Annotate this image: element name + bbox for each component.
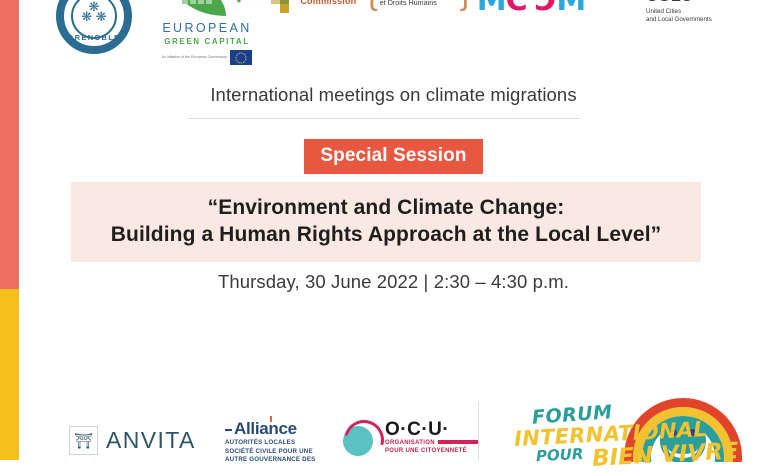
session-title-line-2: Building a Human Rights Approach at the … bbox=[81, 221, 691, 248]
cglu-commission-logo: CGLU Commission { Inclusion Sociale, Dém… bbox=[271, 0, 471, 10]
ocu-sub-line1-text: ORGANISATION bbox=[385, 440, 435, 446]
alliance-sub-line1: AUTORITÉS LOCALES bbox=[225, 439, 325, 447]
anvita-logo: ⛩ ANVITA bbox=[69, 426, 196, 455]
anvita-wordmark: ANVITA bbox=[106, 427, 196, 454]
footer-divider bbox=[478, 402, 479, 460]
uclg-squares-icon bbox=[609, 0, 639, 8]
mc2cm-wordmark: MC2CM bbox=[471, 0, 591, 16]
alliance-sub-line2: SOCIÉTÉ CIVILE POUR UNE bbox=[225, 448, 325, 456]
anvita-emblem-icon: ⛩ bbox=[69, 426, 98, 455]
grenoble-seal-label: GRENOBLE bbox=[64, 33, 124, 42]
footer-logo-strip: ⛩ ANVITA Alliance AUTORITÉS LOCALES SOCI… bbox=[19, 398, 768, 460]
ocu-text-block: O·C·U· ORGANISATION POUR UNE CITOYENNETÉ bbox=[385, 420, 478, 455]
ocu-sub-line1: ORGANISATION bbox=[385, 439, 478, 447]
cglu-description-group: { Inclusion Sociale, Démocratie Particip… bbox=[366, 0, 471, 8]
status-badge: Special Session bbox=[304, 139, 482, 174]
event-subtitle: International meetings on climate migrat… bbox=[19, 84, 768, 106]
alliance-tick-icon bbox=[270, 416, 272, 422]
special-session-badge-wrap: Special Session bbox=[19, 139, 768, 174]
egc-eu-note-text: An initiative of the European Commission bbox=[162, 55, 228, 59]
european-green-capital-logo: ★ ★★ EUROPEAN GREEN CAPITAL An initiativ… bbox=[159, 0, 255, 65]
egc-eu-note: An initiative of the European Commission bbox=[159, 50, 255, 65]
accent-bar-red-segment bbox=[0, 0, 19, 289]
left-accent-bar bbox=[0, 0, 19, 460]
header-logo-strip: ❋❋ ❋ GRENOBLE ★ ★★ EUROPEAN GREEN CAPITA… bbox=[19, 0, 768, 58]
cglu-mosaic-icon bbox=[271, 0, 294, 10]
ocu-wordmark: O·C·U· bbox=[385, 420, 478, 439]
uclg-line2: CGLU bbox=[646, 0, 712, 5]
forum-word-pour: POUR bbox=[536, 445, 584, 465]
uclg-line3b: and Local Governments bbox=[646, 16, 712, 24]
session-datetime: Thursday, 30 June 2022 | 2:30 – 4:30 p.m… bbox=[19, 271, 768, 293]
egc-line2: GREEN CAPITAL bbox=[159, 37, 255, 46]
grenoble-snowflake-icon: ❋❋ ❋ bbox=[81, 2, 106, 22]
header-divider bbox=[188, 118, 580, 119]
ocu-sub-line2: POUR UNE CITOYENNETÉ bbox=[385, 447, 478, 455]
brace-close-icon: } bbox=[460, 0, 471, 8]
uclg-line3a: United Cities bbox=[646, 8, 712, 16]
alliance-wordmark: Alliance bbox=[225, 420, 325, 438]
grenoble-logo: ❋❋ ❋ GRENOBLE bbox=[56, 0, 136, 58]
accent-bar-yellow-segment bbox=[0, 289, 19, 460]
brace-open-icon: { bbox=[366, 0, 377, 8]
poster-canvas: ❋❋ ❋ GRENOBLE ★ ★★ EUROPEAN GREEN CAPITA… bbox=[0, 0, 768, 460]
forum-international-pour-bien-vivre-logo: FORUM INTERNATIONAL POUR BIEN VIVRE bbox=[514, 396, 764, 466]
leaf-bars bbox=[182, 0, 212, 4]
eu-stars-icon: ★ ★★ bbox=[236, 0, 244, 5]
uclg-text-block: UCLG CGLU United Cities and Local Govern… bbox=[646, 0, 712, 23]
cglu-subtitle: Commission bbox=[300, 0, 356, 7]
mc2cm-logo: MC2CM bbox=[471, 0, 591, 16]
globe-icon bbox=[341, 420, 381, 458]
alliance-title-text: Alliance bbox=[234, 419, 297, 438]
grenoble-seal-icon: ❋❋ ❋ GRENOBLE bbox=[56, 0, 132, 54]
ocu-logo: O·C·U· ORGANISATION POUR UNE CITOYENNETÉ bbox=[341, 420, 478, 458]
session-title-line-1: “Environment and Climate Change: bbox=[81, 194, 691, 221]
ocu-bar-icon bbox=[438, 440, 478, 444]
egc-line1: EUROPEAN bbox=[159, 21, 255, 35]
uclg-cglu-logo: UCLG CGLU United Cities and Local Govern… bbox=[609, 0, 768, 23]
green-leaf-icon: ★ ★★ bbox=[168, 0, 246, 20]
alliance-dash-icon bbox=[225, 429, 232, 431]
cglu-desc-line3: et Droits Humains bbox=[380, 0, 458, 7]
session-title-box: “Environment and Climate Change: Buildin… bbox=[71, 182, 701, 262]
eu-flag-icon bbox=[230, 50, 252, 65]
alliance-logo: Alliance AUTORITÉS LOCALES SOCIÉTÉ CIVIL… bbox=[225, 420, 325, 464]
globe-arc-icon bbox=[337, 413, 392, 468]
cglu-text-block: CGLU Commission bbox=[300, 0, 356, 7]
cglu-description: Inclusion Sociale, Démocratie Participat… bbox=[380, 0, 458, 7]
